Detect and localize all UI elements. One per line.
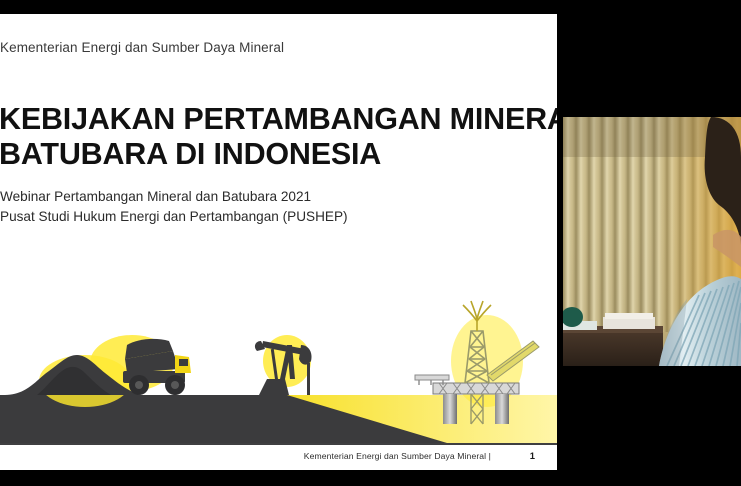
- slide-page-number: 1: [530, 450, 535, 461]
- illustration-svg: [0, 283, 557, 443]
- presentation-slide: Kementerian Energi dan Sumber Daya Miner…: [0, 14, 557, 470]
- slide-title-line-1: KEBIJAKAN PERTAMBANGAN MINERAL DAN: [0, 102, 557, 137]
- meeting-stage: Kementerian Energi dan Sumber Daya Miner…: [0, 0, 741, 486]
- slide-subtitle-line-2: Pusat Studi Hukum Energi dan Pertambanga…: [0, 207, 557, 227]
- participant-video-feed: [563, 117, 741, 366]
- slide-footer: Kementerian Energi dan Sumber Daya Miner…: [0, 443, 557, 470]
- slide-title-line-2: BATUBARA DI INDONESIA: [0, 137, 557, 172]
- slide-eyebrow: Kementerian Energi dan Sumber Daya Miner…: [0, 40, 284, 55]
- mining-dump-truck-icon: [123, 339, 191, 395]
- slide-illustration: [0, 283, 557, 443]
- slide-footer-text: Kementerian Energi dan Sumber Daya Miner…: [304, 451, 491, 461]
- desk: [563, 307, 663, 366]
- participant-video-tile[interactable]: [563, 0, 741, 486]
- screen-share-region[interactable]: Kementerian Energi dan Sumber Daya Miner…: [0, 14, 557, 470]
- slide-subtitle-line-1: Webinar Pertambangan Mineral dan Batubar…: [0, 187, 557, 207]
- slide-subtitle: Webinar Pertambangan Mineral dan Batubar…: [0, 187, 557, 227]
- video-frame-svg: [563, 117, 741, 366]
- slide-title: KEBIJAKAN PERTAMBANGAN MINERAL DAN BATUB…: [0, 102, 557, 172]
